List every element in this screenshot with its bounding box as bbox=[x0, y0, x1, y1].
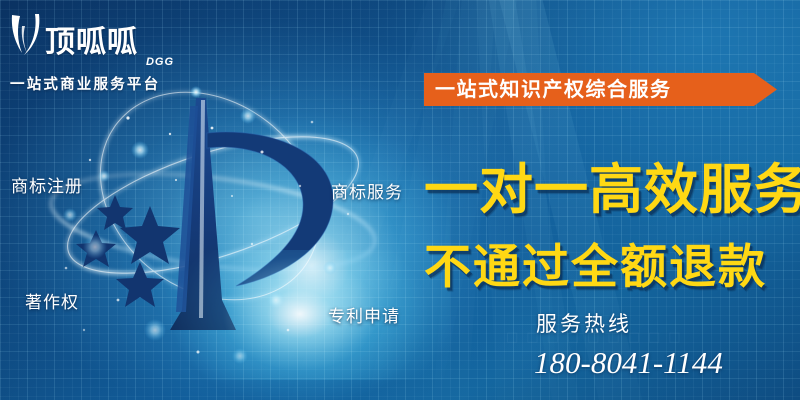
brand-name-cn: 顶呱呱 bbox=[45, 28, 138, 58]
star-cluster bbox=[76, 195, 180, 307]
hotline-label: 服务热线 bbox=[536, 308, 632, 338]
service-label-trademark-service[interactable]: 商标服务 bbox=[331, 178, 403, 203]
ip-letter-p-emblem bbox=[170, 96, 333, 330]
sparkles bbox=[63, 86, 349, 364]
promo-ribbon: 一站式知识产权综合服务 bbox=[424, 73, 777, 106]
center-glow bbox=[120, 80, 450, 380]
advertisement-banner: 顶呱呱 DGG 一站式商业服务平台 商标注册 商标服务 著作权 专利申请 一站式… bbox=[0, 0, 800, 400]
service-label-copyright[interactable]: 著作权 bbox=[25, 288, 79, 313]
service-label-trademark-registration[interactable]: 商标注册 bbox=[11, 172, 83, 197]
service-label-patent-application[interactable]: 专利申请 bbox=[328, 302, 400, 327]
promo-headline-secondary: 不通过全额退款 bbox=[424, 228, 767, 297]
promo-ribbon-text: 一站式知识产权综合服务 bbox=[424, 73, 777, 106]
hotline-number[interactable]: 180-8041-1144 bbox=[534, 345, 723, 381]
brand-logo[interactable]: 顶呱呱 DGG 一站式商业服务平台 bbox=[8, 12, 180, 94]
dgg-flame-mark-icon bbox=[8, 12, 42, 58]
brand-tagline: 一站式商业服务平台 bbox=[10, 73, 180, 94]
promo-headline-primary: 一对一高效服务 bbox=[424, 145, 800, 224]
